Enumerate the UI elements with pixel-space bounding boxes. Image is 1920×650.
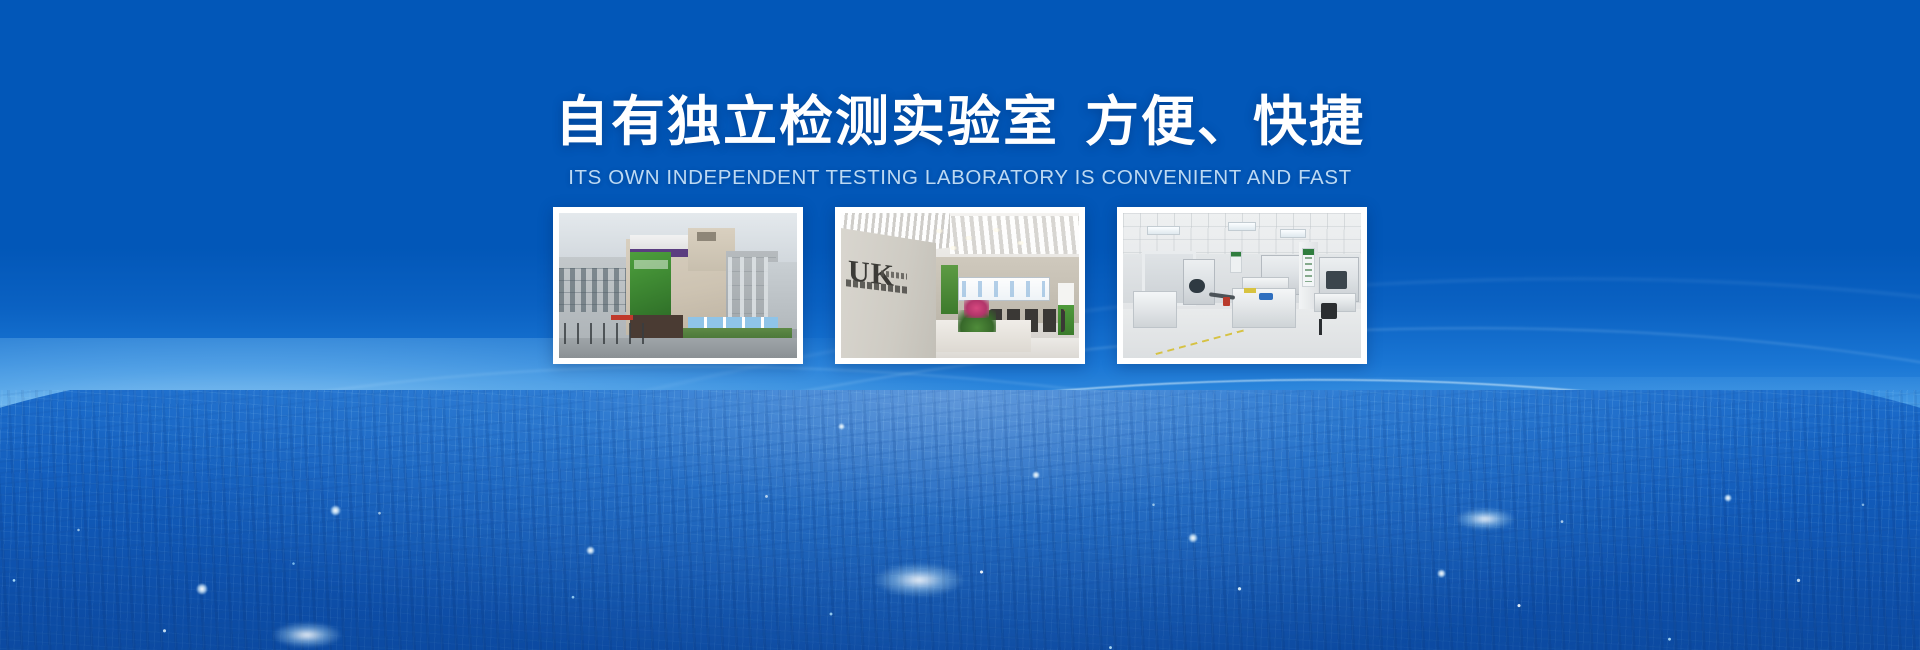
photo-card-reception-lobby[interactable]: UK xyxy=(835,207,1085,364)
photo1-tower-opening xyxy=(697,232,716,241)
photo3-light-panel-2 xyxy=(1228,222,1256,231)
sparkle-6 xyxy=(1724,494,1732,502)
photo2-spotlight-5 xyxy=(1017,241,1024,245)
photo2-flower-arrangement xyxy=(958,300,996,332)
page-subtitle: ITS OWN INDEPENDENT TESTING LABORATORY I… xyxy=(0,166,1920,190)
photo2-spotlight-3 xyxy=(993,228,1000,232)
photo3-lab-chair xyxy=(1318,303,1339,335)
hero-banner: 自有独立检测实验室方便、快捷 ITS OWN INDEPENDENT TESTI… xyxy=(0,0,1920,650)
photo-reception-lobby: UK xyxy=(841,213,1079,358)
photo2-flower-blooms xyxy=(964,300,988,318)
photo2-display-content xyxy=(962,281,1045,297)
photo-laboratory-interior xyxy=(1123,213,1361,358)
photo3-fire-extinguisher xyxy=(1223,297,1230,306)
photo3-exhaust-duct xyxy=(1230,251,1242,273)
sparkle-7 xyxy=(196,583,208,595)
photo-factory-building-exterior xyxy=(559,213,797,358)
city-hotspot-1 xyxy=(874,563,964,597)
page-title: 自有独立检测实验室方便、快捷 xyxy=(0,92,1920,152)
photo1-window-rows xyxy=(559,268,630,312)
sparkle-4 xyxy=(1188,533,1198,543)
photo3-workbench-left xyxy=(1133,291,1178,328)
city-hotspot-2 xyxy=(1455,508,1515,530)
photo1-pillars xyxy=(564,323,645,343)
photo2-ceiling-right xyxy=(950,216,1079,254)
photo-card-factory-building-exterior[interactable] xyxy=(553,207,803,364)
city-hotspot-3 xyxy=(272,622,342,648)
photo2-info-display xyxy=(958,277,1050,301)
photo1-red-sign xyxy=(611,315,632,321)
photo3-chair-back xyxy=(1321,303,1336,320)
photo-card-laboratory-interior[interactable] xyxy=(1117,207,1367,364)
sparkle-1 xyxy=(330,505,341,516)
city-lights xyxy=(0,390,1920,650)
headline-main: 自有独立检测实验室 xyxy=(555,92,1059,152)
aerial-city-graphic xyxy=(0,390,1920,650)
photo3-chair-legs xyxy=(1319,319,1338,335)
photo3-light-panel-3 xyxy=(1280,229,1306,238)
photo3-yellow-tray xyxy=(1244,288,1256,292)
sparkle-2 xyxy=(586,546,595,555)
sparkle-3 xyxy=(1032,471,1040,479)
sparkle-5 xyxy=(1437,569,1446,578)
photo2-green-plantwall xyxy=(941,265,958,314)
city-mass xyxy=(0,390,1920,650)
photo3-light-panel-1 xyxy=(1147,226,1180,235)
photo1-green-banner xyxy=(630,252,670,317)
headline-second: 方便、快捷 xyxy=(1085,92,1365,152)
photo3-column-signage xyxy=(1302,248,1316,288)
sparkle-8 xyxy=(838,423,845,430)
banner-copy: 自有独立检测实验室方便、快捷 ITS OWN INDEPENDENT TESTI… xyxy=(0,92,1920,190)
photo3-blue-container xyxy=(1259,293,1273,300)
photo-card-list: UK xyxy=(0,207,1920,364)
photo3-test-chamber-1 xyxy=(1183,259,1216,305)
